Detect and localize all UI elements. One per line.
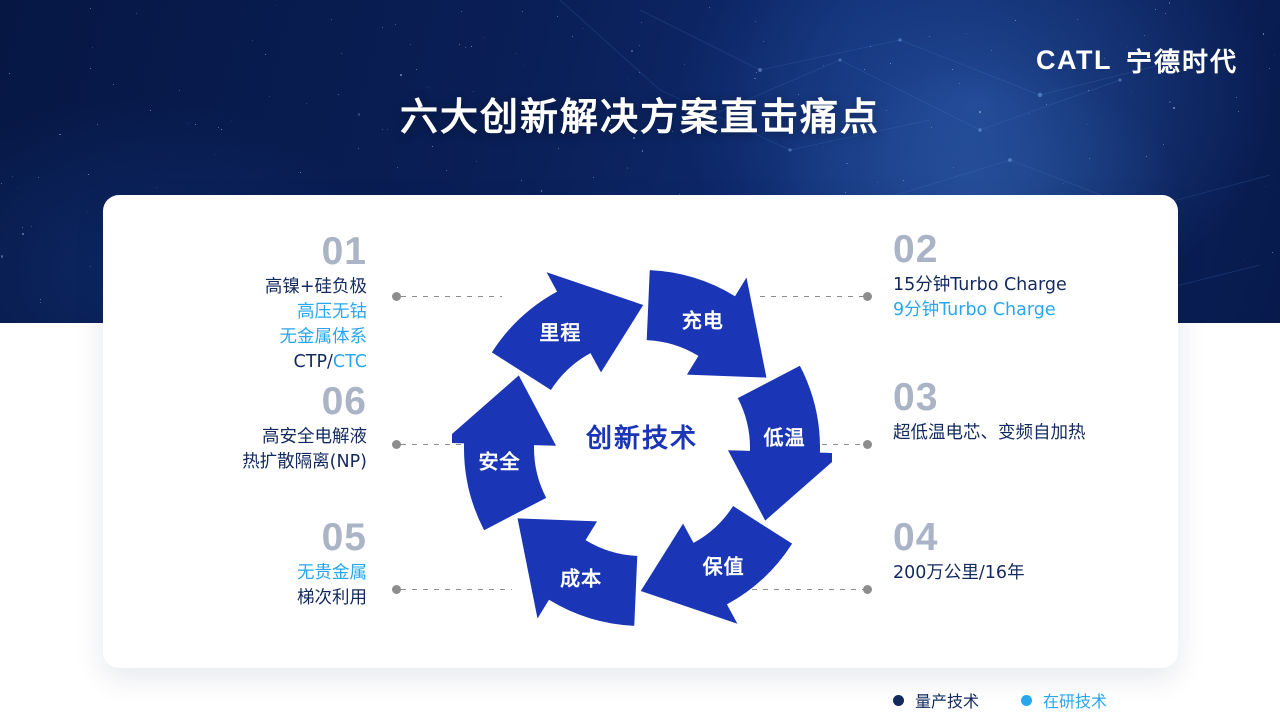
legend-item-mass-production: 量产技术 bbox=[893, 688, 979, 712]
item-01-line-4-dark: CTP/ bbox=[294, 352, 333, 372]
item-02-lines: 15分钟Turbo Charge 9分钟Turbo Charge bbox=[893, 273, 1067, 323]
logo-latin-text: CATL bbox=[1036, 45, 1112, 76]
item-03-line-1: 超低温电芯、变频自加热 bbox=[893, 421, 1086, 446]
page-title: 六大创新解决方案直击痛点 bbox=[0, 86, 1280, 141]
item-01-line-2: 高压无钴 bbox=[265, 300, 367, 325]
item-06-line-2: 热扩散隔离(NP) bbox=[242, 450, 367, 475]
item-06: 06 高安全电解液 热扩散隔离(NP) bbox=[242, 382, 367, 475]
legend-dot-icon bbox=[1021, 695, 1032, 706]
logo-chinese-text: 宁德时代 bbox=[1126, 42, 1238, 79]
legend: 量产技术 在研技术 bbox=[893, 688, 1107, 712]
connector-dot bbox=[863, 440, 872, 449]
brand-logo: CATL 宁德时代 bbox=[1036, 42, 1238, 79]
item-04-line-1: 200万公里/16年 bbox=[893, 561, 1025, 586]
cycle-label-2: 低温 bbox=[764, 422, 806, 451]
item-05-line-2: 梯次利用 bbox=[297, 586, 367, 611]
cycle-label-5: 安全 bbox=[479, 446, 521, 475]
legend-label: 量产技术 bbox=[915, 688, 979, 712]
item-05-lines: 无贵金属 梯次利用 bbox=[297, 561, 367, 611]
connector-dot bbox=[392, 440, 401, 449]
cycle-label-4: 成本 bbox=[560, 563, 602, 592]
item-01-number: 01 bbox=[265, 232, 367, 273]
item-02-number: 02 bbox=[893, 230, 1067, 271]
item-03: 03 超低温电芯、变频自加热 bbox=[893, 378, 1086, 446]
item-01-lines: 高镍+硅负极 高压无钴 无金属体系 CTP/CTC bbox=[265, 275, 367, 375]
connector-dot bbox=[392, 585, 401, 594]
legend-dot-icon bbox=[893, 695, 904, 706]
item-01: 01 高镍+硅负极 高压无钴 无金属体系 CTP/CTC bbox=[265, 232, 367, 375]
item-05-number: 05 bbox=[297, 518, 367, 559]
item-04: 04 200万公里/16年 bbox=[893, 518, 1025, 586]
item-02-line-1: 15分钟Turbo Charge bbox=[893, 273, 1067, 298]
cycle-label-3: 保值 bbox=[703, 551, 745, 580]
legend-item-in-research: 在研技术 bbox=[1021, 688, 1107, 712]
item-02-line-2: 9分钟Turbo Charge bbox=[893, 298, 1067, 323]
item-06-lines: 高安全电解液 热扩散隔离(NP) bbox=[242, 425, 367, 475]
cycle-label-0: 里程 bbox=[539, 316, 581, 345]
connector-dot bbox=[863, 585, 872, 594]
item-01-line-4: CTP/CTC bbox=[265, 350, 367, 375]
item-03-number: 03 bbox=[893, 378, 1086, 419]
legend-label: 在研技术 bbox=[1043, 688, 1107, 712]
item-01-line-1: 高镍+硅负极 bbox=[265, 275, 367, 300]
item-04-number: 04 bbox=[893, 518, 1025, 559]
item-03-lines: 超低温电芯、变频自加热 bbox=[893, 421, 1086, 446]
item-05-line-1: 无贵金属 bbox=[297, 561, 367, 586]
cycle-diagram: 创新技术 里程充电低温保值成本安全 bbox=[452, 248, 832, 648]
connector-dot bbox=[392, 292, 401, 301]
cycle-label-1: 充电 bbox=[682, 304, 724, 333]
item-04-lines: 200万公里/16年 bbox=[893, 561, 1025, 586]
item-06-number: 06 bbox=[242, 382, 367, 423]
item-05: 05 无贵金属 梯次利用 bbox=[297, 518, 367, 611]
item-01-line-4-cyan: CTC bbox=[333, 352, 367, 372]
item-02: 02 15分钟Turbo Charge 9分钟Turbo Charge bbox=[893, 230, 1067, 323]
item-06-line-1: 高安全电解液 bbox=[242, 425, 367, 450]
slide-root: CATL 宁德时代 六大创新解决方案直击痛点 01 高镍+硅负极 高压无钴 无金… bbox=[0, 0, 1280, 727]
connector-dot bbox=[863, 292, 872, 301]
item-01-line-3: 无金属体系 bbox=[265, 325, 367, 350]
